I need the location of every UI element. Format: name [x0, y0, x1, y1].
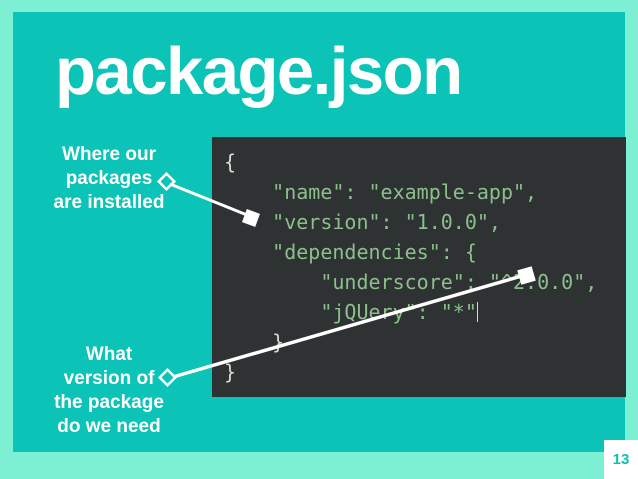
line-jquery-text: "jQUery": "*": [224, 300, 477, 324]
page-number: 13: [613, 451, 630, 468]
line-open-brace: {: [224, 147, 626, 177]
page-title: package.json: [55, 38, 462, 105]
line-dependencies-text: "dependencies": {: [224, 240, 477, 264]
line-dependencies: "dependencies": {: [224, 237, 626, 267]
line-version: "version": "1.0.0",: [224, 207, 626, 237]
line-close-inner: }: [224, 327, 626, 357]
text-caret: [477, 302, 478, 322]
line-jquery: "jQUery": "*": [224, 297, 626, 327]
code-block: { "name": "example-app", "version": "1.0…: [212, 137, 626, 397]
line-underscore: "underscore": "^2.0.0",: [224, 267, 626, 297]
line-name: "name": "example-app",: [224, 177, 626, 207]
line-name-text: "name": "example-app",: [224, 180, 537, 204]
line-close-outer: }: [224, 357, 626, 387]
line-close-inner-text: }: [224, 330, 284, 354]
annotation-where-packages-installed: Where our packages are installed: [29, 143, 189, 215]
slide: package.json { "name": "example-app", "v…: [0, 0, 638, 479]
line-underscore-text: "underscore": "^2.0.0",: [224, 270, 597, 294]
line-version-text: "version": "1.0.0",: [224, 210, 501, 234]
page-number-badge: 13: [604, 440, 638, 479]
line-close-outer-text: }: [224, 360, 236, 384]
code-lines: { "name": "example-app", "version": "1.0…: [224, 147, 626, 387]
slide-panel: package.json { "name": "example-app", "v…: [13, 12, 625, 452]
annotation-what-version-needed: What version of the package do we need: [29, 343, 189, 439]
line-open-brace-text: {: [224, 150, 236, 174]
